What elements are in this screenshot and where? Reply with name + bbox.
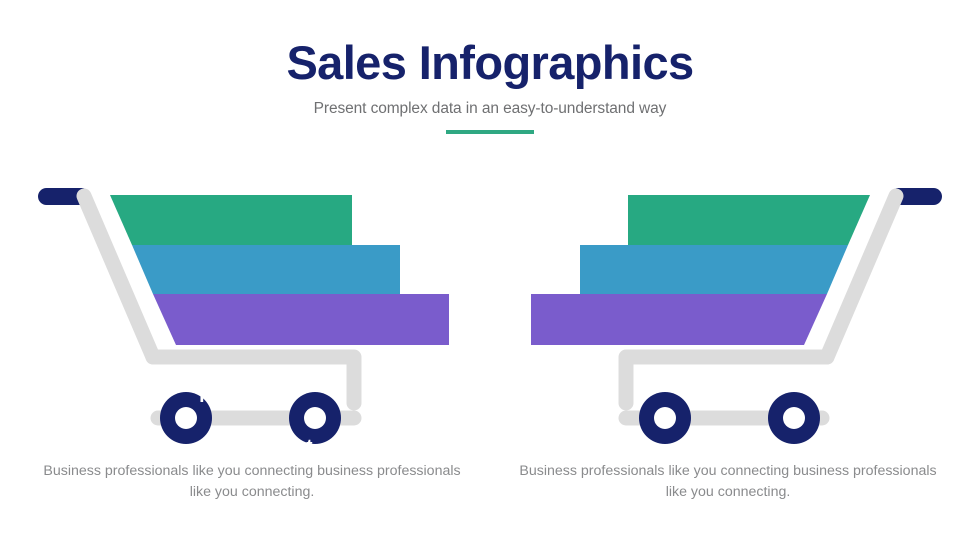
caption-right: Business professionals like you connecti… [518,461,938,503]
page-title: Sales Infographics [0,0,980,89]
bar-attract [153,294,449,345]
cart-wheel-icon [289,392,341,444]
cart-infographic-right: Sell Engage Convert [510,175,970,465]
bar-connect [132,245,400,294]
header: Sales Infographics Present complex data … [0,0,980,118]
cart-wheel-icon [639,392,691,444]
page-subtitle: Present complex data in an easy-to-under… [0,89,980,118]
accent-divider [446,130,534,134]
bar-convert [531,294,827,345]
bar-engage [580,245,848,294]
caption-left: Business professionals like you connecti… [42,461,462,503]
cart-infographic-left: Retention Connect Attract [10,175,470,465]
slide-canvas: Sales Infographics Present complex data … [0,0,980,551]
bar-sell [628,195,870,245]
cart-wheel-icon [160,392,212,444]
cart-wheel-icon [768,392,820,444]
bar-retention [110,195,352,245]
